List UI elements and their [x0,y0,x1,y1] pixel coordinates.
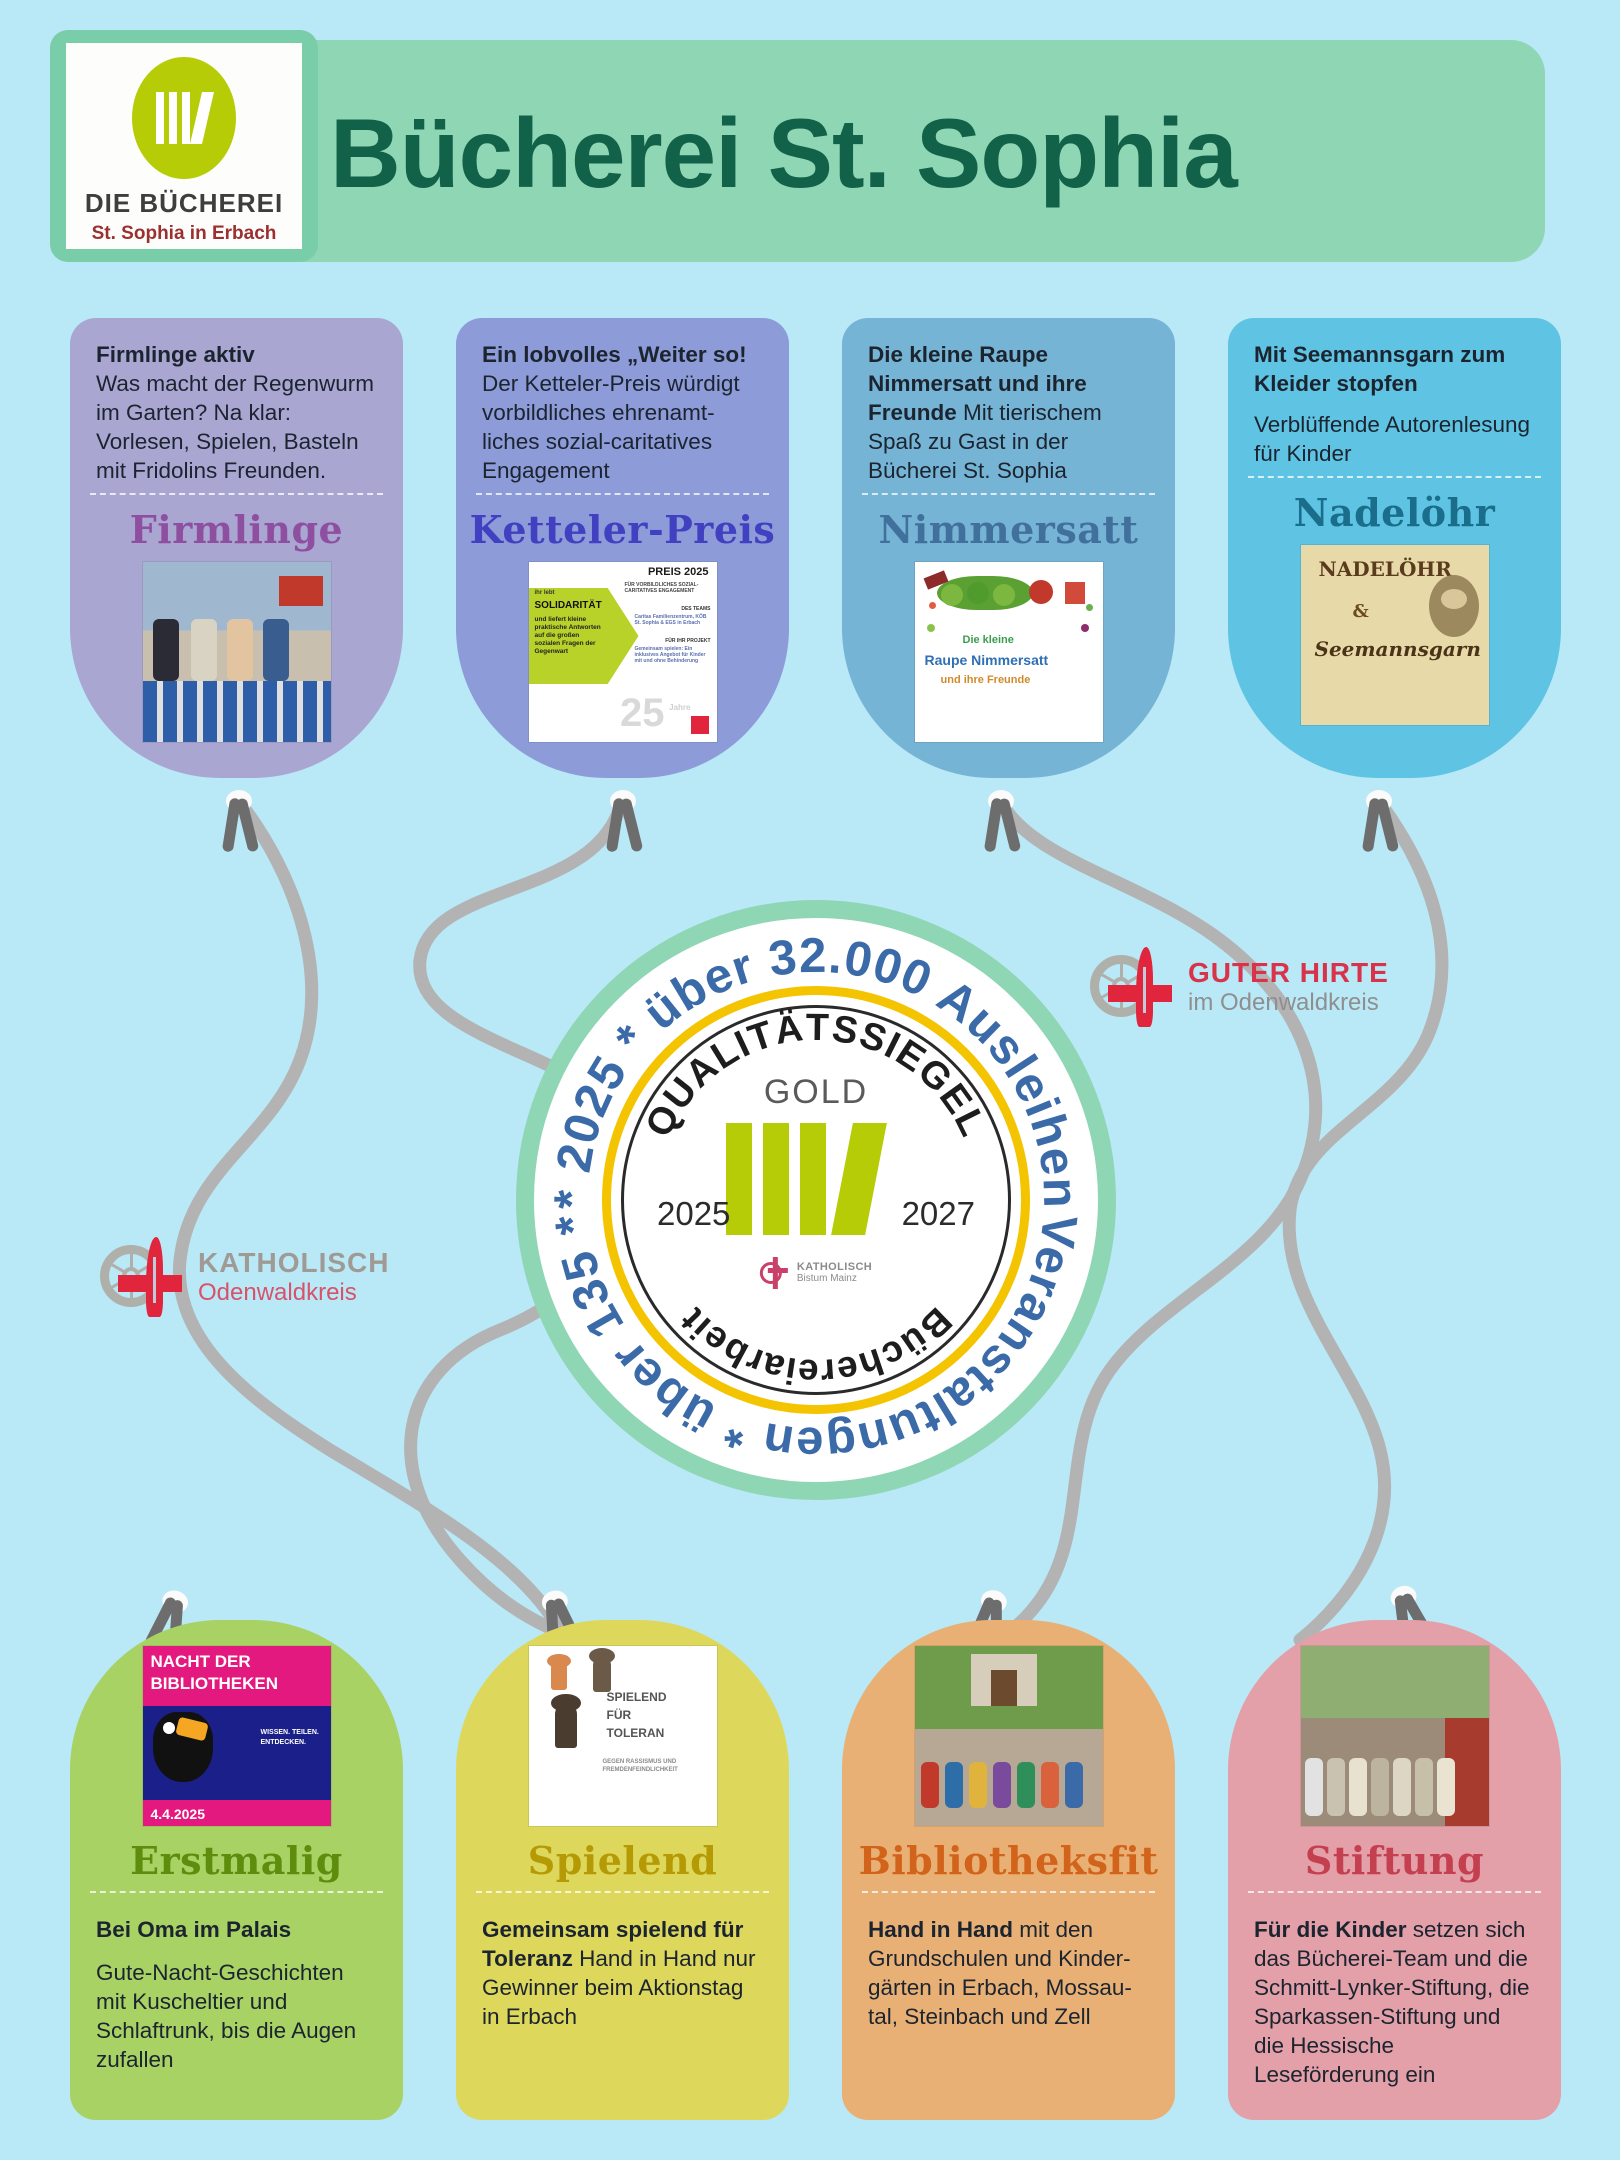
card-erstmalig-label: Erstmalig [70,1838,403,1883]
partner-line1: GUTER HIRTE [1188,957,1389,989]
cover-line2: & [1353,601,1369,622]
card-firmlinge-label: Firmlinge [70,507,403,552]
seal-grade: GOLD [764,1073,868,1112]
card-firmlinge-body: Was macht der Regenwurm im Garten? Na kl… [96,371,374,483]
cover-line1: Die kleine [963,634,1014,646]
card-firmlinge-headline: Firmlinge aktiv [96,342,255,367]
card-stiftung-label: Stiftung [1228,1838,1561,1883]
card-ketteler-headline: Ein lobvolles „Weiter so! [482,342,747,367]
logo-claim: GEGEN RASSISMUS UND FREMDENFEINDLICHKEIT [603,1758,703,1774]
page-title: Bücherei St. Sophia [330,78,1510,228]
card-nimmersatt-text: Die kleine Raupe Nimmersatt und ihre Fre… [842,318,1175,485]
card-erstmalig-body: Gute-Nacht-Geschichten mit Kuscheltier u… [96,1960,356,2072]
nacht-der-bibliotheken-poster[interactable]: NACHT DER BIBLIOTHEKEN WISSEN. TEILEN. E… [143,1646,331,1826]
card-nadeloehr-label: Nadelöhr [1228,490,1561,535]
card-nimmersatt-label: Nimmersatt [842,507,1175,552]
cover-line3: Seemannsgarn [1315,637,1481,661]
book-stack-icon [132,57,236,179]
poster-line1: NACHT DER [151,1652,251,1672]
svg-text:Büchereiarbeit: Büchereiarbeit [671,1300,960,1394]
ketteler-preis-poster[interactable]: PREIS 2025 FÜR VORBILDLICHES SOZIAL-CARI… [529,562,717,742]
card-stiftung[interactable]: Stiftung Für die Kinder setzen sich das … [1228,1620,1561,2120]
poster-team-label: DES TEAMS [681,606,710,612]
stiftung-group-photo[interactable] [1301,1646,1489,1826]
seal-inner-disc: QUALITÄTSSIEGEL Büchereiarbeit GOLD 2025… [602,986,1030,1414]
book-stack-icon [726,1123,906,1235]
poster-paragraph: und liefert kleine praktische Antworten … [535,616,607,656]
card-erstmalig-headline: Bei Oma im Palais [96,1917,291,1942]
card-stiftung-body: setzen sich das Bücherei-Team und die Sc… [1254,1917,1530,2087]
card-ketteler-body: Der Ketteler-Preis würdigt vorbildliches… [482,371,740,483]
partner-line2: im Odenwaldkreis [1188,989,1389,1017]
library-logo: DIE BÜCHEREI St. Sophia in Erbach [50,30,318,262]
card-spielend-label: Spielend [456,1838,789,1883]
nadeloehr-illustration[interactable]: NADELÖHR & Seemannsgarn [1301,545,1489,725]
quality-seal: * 2025 * über 32.000 Ausleihen Veranstal… [516,900,1116,1500]
logo-line3: TOLERAN [607,1726,665,1740]
firmlinge-photo[interactable] [143,562,331,742]
poster-project: Gemeinsam spielen: Ein inklusives Angebo… [635,646,711,664]
card-firmlinge[interactable]: Firmlinge aktiv Was macht der Regenwurm … [70,318,403,778]
poster-headline: SOLIDARITÄT [535,600,602,611]
poster-keyword: ihr lebt [535,590,555,596]
partner-logo-guter-hirte: GUTER HIRTE im Odenwaldkreis [1090,945,1389,1029]
card-bibliotheksfit-label: Bibliotheksfit [842,1838,1175,1883]
partner-line2: Odenwaldkreis [198,1279,389,1307]
poster-anniversary: 25 [620,691,665,736]
bibliotheksfit-group-photo[interactable] [915,1646,1103,1826]
clothespin-icon [982,790,1022,852]
partner-line1: KATHOLISCH [198,1247,389,1279]
diocese-line2: Bistum Mainz [797,1273,872,1284]
clothespin-icon [604,790,644,852]
seal-year-to: 2027 [902,1195,975,1233]
bistum-mainz-logo: KATHOLISCH Bistum Mainz [760,1257,872,1289]
wheel-cross-icon [100,1235,184,1319]
spielend-fuer-toleranz-logo[interactable]: SPIELEND FÜR TOLERAN GEGEN RASSISMUS UND… [529,1646,717,1826]
diocese-line1: KATHOLISCH [797,1262,872,1273]
clothespin-icon [220,790,260,852]
card-divider [1248,476,1541,478]
wheel-cross-icon [1090,945,1174,1029]
logo-line2: FÜR [607,1708,632,1722]
card-nadeloehr[interactable]: Mit Seemannsgarn zum Kleider stopfen Ver… [1228,318,1561,778]
seal-year-from: 2025 [657,1195,730,1233]
card-stiftung-headline: Für die Kinder [1254,1917,1407,1942]
cover-line2: Raupe Nimmersatt [925,652,1049,668]
card-erstmalig[interactable]: NACHT DER BIBLIOTHEKEN WISSEN. TEILEN. E… [70,1620,403,2120]
card-spielend-text: Gemeinsam spielend für Toleranz Hand in … [456,1893,789,2031]
logo-name: DIE BÜCHEREI [85,188,283,219]
poster-team: Caritas Familienzentrum, KÖB St. Sophia … [635,614,711,626]
poster-title: PREIS 2025 [648,566,709,578]
card-ketteler-label: Ketteler-Preis [456,507,789,552]
card-ketteler-preis[interactable]: Ein lobvolles „Weiter so! Der Ketteler-P… [456,318,789,778]
card-bibliotheksfit[interactable]: Bibliotheksfit Hand in Hand mit den Grun… [842,1620,1175,2120]
card-divider [862,493,1155,495]
wheel-cross-icon [760,1257,792,1289]
card-nadeloehr-headline: Mit Seemannsgarn zum Kleider stopfen [1254,342,1505,396]
card-divider [90,493,383,495]
card-divider [476,493,769,495]
card-nadeloehr-body: Verblüffende Autorenlesung für Kinder [1254,412,1530,466]
card-spielend[interactable]: SPIELEND FÜR TOLERAN GEGEN RASSISMUS UND… [456,1620,789,2120]
poster-project-label: FÜR IHR PROJEKT [665,638,710,644]
clothespin-icon [1360,790,1400,852]
card-nimmersatt[interactable]: Die kleine Raupe Nimmersatt und ihre Fre… [842,318,1175,778]
logo-subtitle: St. Sophia in Erbach [92,223,277,245]
partner-logo-katholisch: KATHOLISCH Odenwaldkreis [100,1235,389,1319]
poster-canvas: Bücherei St. Sophia DIE BÜCHEREI St. Sop… [0,0,1620,2160]
card-nadeloehr-text: Mit Seemannsgarn zum Kleider stopfen Ver… [1228,318,1561,468]
poster-line2: BIBLIOTHEKEN [151,1674,279,1694]
card-firmlinge-text: Firmlinge aktiv Was macht der Regenwurm … [70,318,403,485]
poster-line1: FÜR VORBILDLICHES SOZIAL-CARITATIVES ENG… [625,582,711,594]
raupe-nimmersatt-cover[interactable]: Die kleine Raupe Nimmersatt und ihre Fre… [915,562,1103,742]
poster-anniversary-sub: Jahre [669,703,690,712]
card-ketteler-text: Ein lobvolles „Weiter so! Der Ketteler-P… [456,318,789,485]
poster-date: 4.4.2025 [151,1806,206,1822]
logo-line1: SPIELEND [607,1690,667,1704]
card-erstmalig-text: Bei Oma im Palais Gute-Nacht-Geschichten… [70,1893,403,2074]
cover-line3: und ihre Freunde [941,674,1031,686]
card-bibliotheksfit-headline: Hand in Hand [868,1917,1013,1942]
cover-line1: NADELÖHR [1319,557,1452,581]
poster-claim: WISSEN. TEILEN. ENTDECKEN. [261,1728,325,1748]
card-stiftung-text: Für die Kinder setzen sich das Bücherei-… [1228,1893,1561,2089]
card-bibliotheksfit-text: Hand in Hand mit den Grundschulen und Ki… [842,1893,1175,2031]
